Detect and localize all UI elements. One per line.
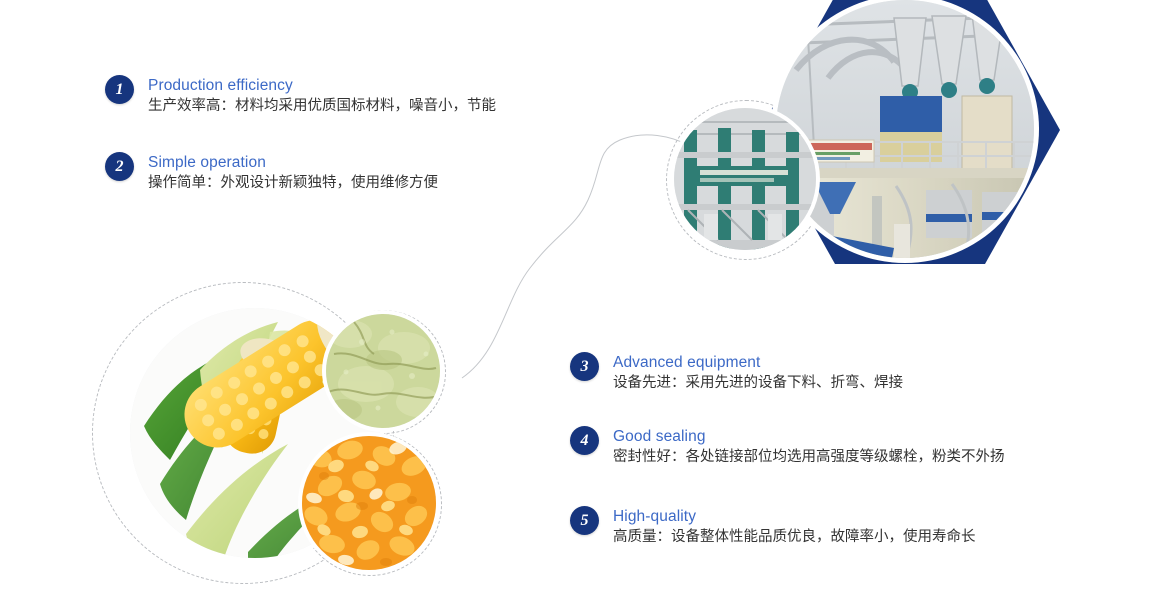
factory-media-group xyxy=(666,0,1086,268)
feature-badge-3: 3 xyxy=(570,352,599,381)
feature-text-3: Advanced equipment 设备先进：采用先进的设备下料、折弯、焊接 xyxy=(613,352,903,394)
feature-item-3[interactable]: 3 Advanced equipment 设备先进：采用先进的设备下料、折弯、焊… xyxy=(570,352,903,394)
feature-desc-1: 生产效率高：材料均采用优质国标材料，噪音小，节能 xyxy=(148,96,496,117)
feature-text-4: Good sealing 密封性好：各处链接部位均选用高强度等级螺栓，粉类不外扬 xyxy=(613,426,1005,468)
corn-grits-photo xyxy=(302,436,436,570)
feature-badge-2: 2 xyxy=(105,152,134,181)
feature-infographic: 1 Production efficiency 生产效率高：材料均采用优质国标材… xyxy=(0,0,1154,591)
feature-item-4[interactable]: 4 Good sealing 密封性好：各处链接部位均选用高强度等级螺栓，粉类不… xyxy=(570,426,1005,468)
feature-desc-3: 设备先进：采用先进的设备下料、折弯、焊接 xyxy=(613,373,903,394)
factory-main-photo xyxy=(776,0,1034,258)
feature-title-5: High-quality xyxy=(613,507,976,526)
feature-desc-5: 高质量：设备整体性能品质优良，故障率小，使用寿命长 xyxy=(613,527,976,548)
feature-title-3: Advanced equipment xyxy=(613,353,903,372)
factory-small-photo xyxy=(674,108,816,250)
corn-paste-photo xyxy=(326,314,440,428)
feature-item-2[interactable]: 2 Simple operation 操作简单：外观设计新颖独特，使用维修方便 xyxy=(105,152,438,194)
feature-text-2: Simple operation 操作简单：外观设计新颖独特，使用维修方便 xyxy=(148,152,438,194)
feature-title-4: Good sealing xyxy=(613,427,1005,446)
feature-badge-1: 1 xyxy=(105,75,134,104)
feature-text-1: Production efficiency 生产效率高：材料均采用优质国标材料，… xyxy=(148,75,496,117)
feature-title-1: Production efficiency xyxy=(148,76,496,95)
feature-desc-2: 操作简单：外观设计新颖独特，使用维修方便 xyxy=(148,173,438,194)
feature-badge-5: 5 xyxy=(570,506,599,535)
feature-badge-4: 4 xyxy=(570,426,599,455)
feature-item-5[interactable]: 5 High-quality 高质量：设备整体性能品质优良，故障率小，使用寿命长 xyxy=(570,506,976,548)
corn-media-group xyxy=(86,276,506,591)
feature-title-2: Simple operation xyxy=(148,153,438,172)
feature-text-5: High-quality 高质量：设备整体性能品质优良，故障率小，使用寿命长 xyxy=(613,506,976,548)
feature-item-1[interactable]: 1 Production efficiency 生产效率高：材料均采用优质国标材… xyxy=(105,75,496,117)
feature-desc-4: 密封性好：各处链接部位均选用高强度等级螺栓，粉类不外扬 xyxy=(613,447,1005,468)
